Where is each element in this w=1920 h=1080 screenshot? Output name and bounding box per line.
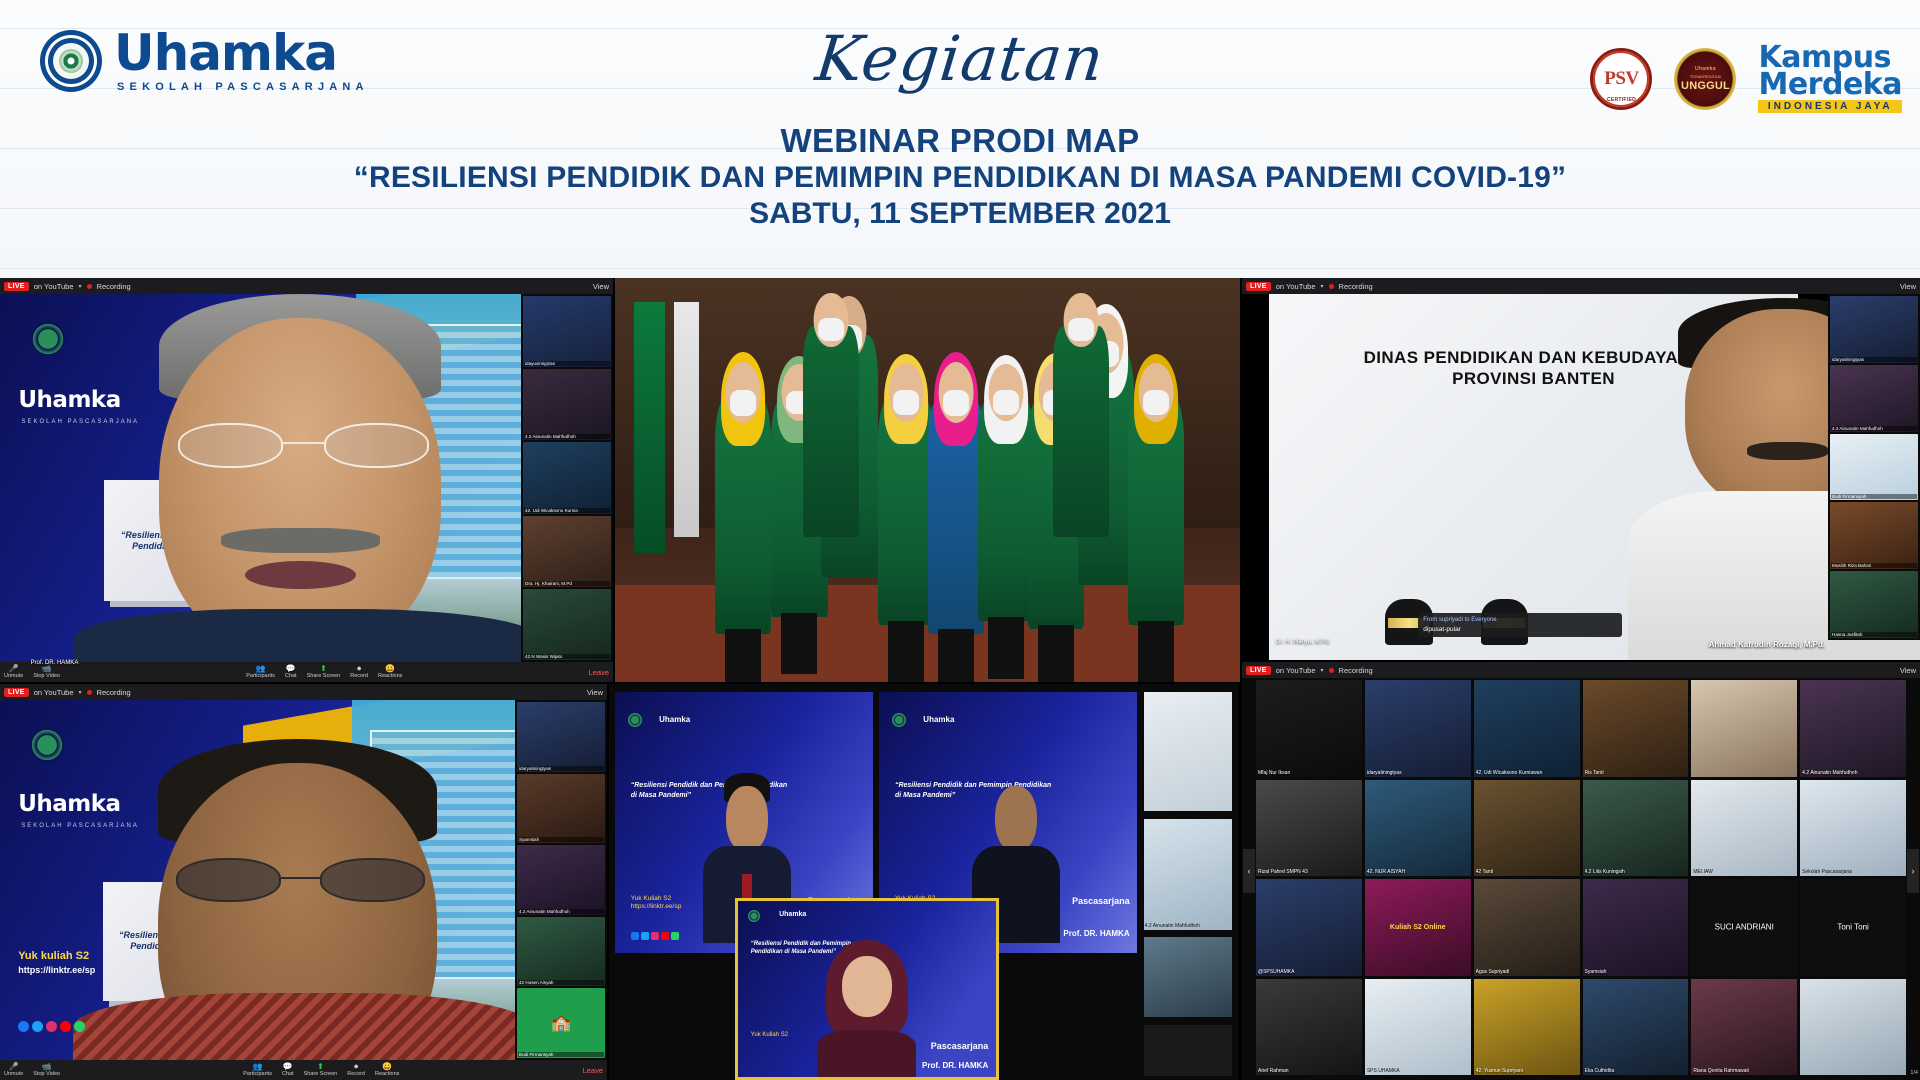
recording-dot-icon	[1329, 284, 1334, 289]
social-icons[interactable]	[18, 1021, 85, 1032]
thumbnail-participant[interactable]: idaryatiningtyas	[517, 702, 605, 772]
thumbnail-participant[interactable]: Hasna Jusfitah	[1830, 571, 1918, 638]
whatsapp-icon[interactable]	[671, 932, 679, 940]
thumbnail-participant[interactable]: 4.2 Ainunatin Mahfudhoh	[517, 845, 605, 915]
toolbar-participants-button[interactable]: 👥Participants	[243, 1063, 272, 1077]
cell-name: 42. Yusnun Supriyani	[1476, 1068, 1578, 1074]
chevron-down-icon[interactable]: ▾	[1321, 283, 1324, 290]
pane-speaker-keynote[interactable]: Uhamka SEKOLAH PASCASARJANA “Resiliensi …	[0, 278, 613, 682]
cell-name: Syamsiah	[1585, 969, 1687, 975]
facebook-icon[interactable]	[631, 932, 639, 940]
zoom-status-bar: LIVE on YouTube ▾ Recording View	[0, 684, 607, 700]
cell-name: 42. Udi Wicaksono Kurniawan	[1476, 770, 1578, 776]
view-button[interactable]: View	[593, 282, 609, 291]
chevron-down-icon[interactable]: ▾	[1321, 667, 1324, 674]
speaker-name-caption: Prof. DR. HAMKA	[31, 660, 79, 666]
thumbnail-participant[interactable]: Musliih Riza Bahari	[1830, 502, 1918, 569]
banten-line2: PROVINSI BANTEN	[1452, 369, 1615, 388]
slide-brand: Uhamka	[18, 791, 120, 817]
pane-speaker-moderator[interactable]: Uhamka SEKOLAH PASCASARJANA “Resiliensi …	[0, 684, 607, 1080]
thumb-name: 4.2 Ainunatin Mahfudhoh	[1145, 923, 1200, 929]
cell-display-name: SUCI ANDRIANI	[1697, 923, 1792, 932]
group-member	[715, 399, 771, 633]
cell-name: Mfaj Nur Iksan	[1258, 770, 1360, 776]
slide-pascasarjana: Pascasarjana	[1072, 896, 1130, 906]
gallery-cell[interactable]	[1800, 979, 1906, 1076]
cell-name: 4.2 Lilis Kuningsih	[1585, 869, 1687, 875]
toolbar-stop-video-button[interactable]: 📹Stop Video	[33, 665, 60, 679]
thumbnail-participant[interactable]: Syamsiah	[517, 774, 605, 844]
recording-label: Recording	[1339, 666, 1373, 675]
toolbar-unmute-button[interactable]: 🎤Unmute	[4, 665, 23, 679]
gallery-cell[interactable]: Mfaj Nur Iksan	[1256, 680, 1362, 777]
slide-logo-icon	[892, 713, 906, 727]
toolbar-record-button[interactable]: ⏺Record	[347, 1063, 365, 1077]
group-member	[1053, 326, 1109, 536]
gallery-cell[interactable]: 4.2 Ainunatin Mahfudhoh	[1800, 680, 1906, 777]
cell-name: SPS UHAMKA	[1367, 1068, 1469, 1074]
house-icon: 🏫	[551, 1013, 571, 1033]
gallery-cell[interactable]: 42 Tanti	[1474, 780, 1580, 877]
speaker-caption-left: Dr. H. Wahyu, M.Pd.	[1276, 639, 1330, 645]
cta-line1: Yuk kuliah S2	[18, 950, 89, 962]
thumb-name: idaryatiningtyas	[518, 766, 604, 771]
banten-background: DINAS PENDIDIKAN DAN KEBUDAYAAN PROVINSI…	[1242, 278, 1920, 660]
cell-name: Agus Supriyadi	[1476, 969, 1578, 975]
group-member	[928, 399, 984, 633]
gallery-prev-arrow[interactable]: ‹	[1243, 849, 1255, 893]
live-badge: LIVE	[4, 688, 29, 697]
cta2: https://linktr.ee/sp	[631, 903, 682, 910]
toolbar-reactions-button[interactable]: 😀Reactions	[375, 1063, 399, 1077]
thumbnail-participant[interactable]	[1144, 692, 1232, 811]
thumb-name: 4.2 Ainunatin Mahfudhoh	[524, 434, 610, 439]
thumbnail-participant[interactable]	[1144, 1025, 1232, 1076]
toolbar-stop-video-button[interactable]: 📹Stop Video	[33, 1063, 60, 1077]
glasses-icon	[176, 858, 425, 902]
poster-title-block: WEBINAR PRODI MAP “RESILIENSI PENDIDIK D…	[0, 122, 1920, 232]
unggul-accreditation-seal-icon: Uhamka TERAKREDITASI UNGGUL	[1674, 48, 1736, 110]
toolbar-leave-button[interactable]: Leave	[583, 1066, 603, 1075]
instagram-icon[interactable]	[46, 1021, 57, 1032]
psv-label: PSV	[1604, 68, 1638, 90]
gallery-cell[interactable]: 42. Yusnun Supriyani	[1474, 979, 1580, 1076]
webinar-date: SABTU, 11 SEPTEMBER 2021	[0, 196, 1920, 232]
gallery-cell[interactable]: Sekolah Pascasarjana	[1800, 780, 1906, 877]
gallery-cell[interactable]: 42. NUR AISYAH	[1365, 780, 1471, 877]
cell-name: MEI.IAW	[1693, 869, 1795, 875]
chat-icon: 💬	[286, 665, 296, 673]
thumb-name: Syamsiah	[518, 837, 604, 842]
thumb-name: Musliih Riza Bahari	[1831, 563, 1917, 568]
twitter-icon[interactable]	[32, 1021, 43, 1032]
whatsapp-icon[interactable]	[74, 1021, 85, 1032]
people-icon: 👥	[256, 665, 266, 673]
people-icon: 👥	[253, 1063, 263, 1071]
cell-name: @SPSUHAMKA	[1258, 969, 1360, 975]
chevron-down-icon[interactable]: ▾	[79, 689, 82, 696]
zoom-status-bar: LIVE on YouTube ▾ Recording View	[1242, 278, 1920, 294]
psv-certified-label: CERTIFIED	[1593, 97, 1649, 103]
unggul-label: UNGGUL	[1681, 80, 1730, 92]
psv-certified-seal-icon: PSV CERTIFIED	[1590, 48, 1652, 110]
thumbnail-participant[interactable]	[1144, 937, 1232, 1016]
reactions-icon: 😀	[382, 1063, 392, 1071]
toolbar-record-button[interactable]: ⏺Record	[350, 665, 368, 679]
recording-label: Recording	[97, 688, 131, 697]
toolbar-unmute-button[interactable]: 🎤Unmute	[4, 1063, 23, 1077]
webinar-poster-screenshot: Uhamka SEKOLAH PASCASARJANA Kegiatan WEB…	[0, 0, 1920, 1080]
cell-display-name: Toni Toni	[1805, 923, 1900, 932]
slide-brand: Uhamka	[659, 715, 690, 724]
reactions-icon: 😀	[385, 665, 395, 673]
webinar-theme: “RESILIENSI PENDIDIK DAN PEMIMPIN PENDID…	[0, 160, 1920, 196]
thumbnail-participant[interactable]: Budi Firmansyah	[1830, 434, 1918, 501]
unggul-terakreditasi: TERAKREDITASI	[1690, 74, 1722, 79]
youtube-icon[interactable]	[60, 1021, 71, 1032]
kampus-merdeka-tagline: INDONESIA JAYA	[1758, 100, 1902, 113]
view-button[interactable]: View	[1900, 666, 1916, 675]
participant-thumbnail-strip[interactable]: idayuximigizas 4.2 Ainunatin Mahfudhoh 4…	[521, 294, 613, 662]
chat-notification-bubble[interactable]: From supriyadi to Everyone dipusat-pular	[1418, 613, 1621, 637]
group-member	[1128, 399, 1184, 625]
cell-name: Sekolah Pascasarjana	[1802, 869, 1904, 875]
group-member	[978, 399, 1034, 621]
gallery-cell-name-only[interactable]: SUCI ANDRIANI	[1691, 879, 1797, 976]
chat-sender: From supriyadi to Everyone	[1423, 616, 1616, 625]
overlay-speaker-figure	[815, 940, 918, 1077]
zoom-status-bar: LIVE on YouTube ▾ Recording View	[0, 278, 613, 294]
overlay-cta: Yuk Kuliah S2	[751, 1032, 788, 1038]
gallery-cell-name-only[interactable]: Toni Toni	[1800, 879, 1906, 976]
zoom-toolbar[interactable]: 🎤Unmute 📹Stop Video 👥Participants 💬Chat …	[0, 662, 613, 682]
gallery-cell[interactable]: Syamsiah	[1583, 879, 1689, 976]
thumbnail-participant[interactable]: 42 Husen Aisyah	[517, 917, 605, 987]
zoom-status-bar: LIVE on YouTube ▾ Recording View	[1242, 662, 1920, 678]
gallery-cell[interactable]: Agus Supriyadi	[1474, 879, 1580, 976]
pane-gallery-grid[interactable]: LIVE on YouTube ▾ Recording View Mfaj Nu…	[1242, 662, 1920, 1080]
share-screen-icon: ⬆	[320, 665, 327, 673]
view-button[interactable]: View	[1900, 282, 1916, 291]
live-badge: LIVE	[1246, 282, 1271, 291]
thumb-name: Budi Firmansyah	[518, 1052, 604, 1057]
social-icons[interactable]	[631, 932, 679, 940]
group-member	[803, 326, 859, 536]
gallery-cell[interactable]: @SPSUHAMKA	[1256, 879, 1362, 976]
group-member	[878, 399, 934, 625]
toolbar-leave-button[interactable]: Leave	[589, 668, 609, 677]
slide-brand: Uhamka	[923, 715, 954, 724]
speaker-caption-right: Ahmad Kafrudin Rozaqi, M.Pd.	[1709, 640, 1825, 649]
gallery-cell[interactable]: Ris Tanti	[1583, 680, 1689, 777]
microphone-icon: 🎤	[9, 1063, 19, 1071]
speaker-mouth	[245, 561, 355, 589]
group-photo-background	[615, 278, 1240, 682]
camera-icon: 📹	[42, 1063, 52, 1071]
slide-brand: Uhamka	[18, 387, 120, 413]
slide-cta: Yuk Kuliah S2 https://linktr.ee/sp	[631, 895, 682, 911]
cell-name: idaryatiningtyas	[1367, 770, 1469, 776]
partner-logos: PSV CERTIFIED Uhamka TERAKREDITASI UNGGU…	[1590, 44, 1902, 113]
video-collage-grid: Uhamka SEKOLAH PASCASARJANA “Resiliensi …	[0, 278, 1920, 1080]
zoom-toolbar[interactable]: 🎤Unmute 📹Stop Video 👥Participants 💬Chat …	[0, 1060, 607, 1080]
kampus-merdeka-logo: Kampus Merdeka INDONESIA JAYA	[1758, 44, 1902, 113]
camera-icon: 📹	[42, 665, 52, 673]
cta1: Yuk Kuliah S2	[631, 895, 671, 902]
speaker-face	[159, 318, 441, 657]
gallery-page-indicator: 1/4	[1910, 1070, 1918, 1076]
pane-speaker-banten[interactable]: DINAS PENDIDIKAN DAN KEBUDAYAAN PROVINSI…	[1242, 278, 1920, 660]
cell-name: Riana Qonita Rahmawati	[1693, 1068, 1795, 1074]
youtube-icon[interactable]	[661, 932, 669, 940]
live-badge: LIVE	[4, 282, 29, 291]
live-platform-label[interactable]: on YouTube	[1276, 666, 1316, 675]
thumb-name: Dra. Hj. Khairani, M.Pd	[524, 581, 610, 586]
overlay-pascasarjana: Pascasarjana	[931, 1041, 989, 1051]
slide-logo-icon	[748, 910, 760, 922]
cta-line2: https://linktr.ee/sp	[18, 965, 95, 975]
instagram-icon[interactable]	[651, 932, 659, 940]
overlay-active-speaker[interactable]: Uhamka “Resiliensi Pendidik dan Pemimpin…	[735, 898, 999, 1080]
cell-name: Arief Rahman	[1258, 1068, 1360, 1074]
speaker-moustache	[221, 528, 380, 552]
thumb-name: idaryatiningtyas	[1831, 357, 1917, 362]
slide-brand-sub: SEKOLAH PASCASARJANA	[21, 419, 139, 425]
thumb-name: Hasna Jusfitah	[1831, 632, 1917, 637]
poster-header: Uhamka SEKOLAH PASCASARJANA Kegiatan WEB…	[0, 0, 1920, 278]
record-icon: ⏺	[354, 1063, 358, 1071]
thumb-name: 4.2 Ainunatin Mahfudhoh	[1831, 426, 1917, 431]
recording-dot-icon	[1329, 668, 1334, 673]
slide-logo-icon	[30, 728, 64, 762]
recording-dot-icon	[87, 690, 92, 695]
gallery-cell[interactable]	[1691, 680, 1797, 777]
live-platform-label[interactable]: on YouTube	[1276, 282, 1316, 291]
share-screen-icon: ⬆	[317, 1063, 324, 1071]
webinar-title: WEBINAR PRODI MAP	[0, 122, 1920, 160]
toolbar-participants-button[interactable]: 👥Participants	[246, 665, 275, 679]
gallery-next-arrow[interactable]: ›	[1907, 849, 1919, 893]
thumb-name: 42.N Wasis Wijato	[524, 654, 610, 659]
slide-brand-sub: SEKOLAH PASCASARJANA	[21, 823, 139, 829]
unggul-brand: Uhamka	[1695, 66, 1716, 72]
participant-thumbnail-strip[interactable]: idaryatiningtyas Syamsiah 4.2 Ainunatin …	[515, 700, 607, 1060]
thumb-name: idayuximigizas	[524, 361, 610, 366]
pane-group-photo[interactable]	[615, 278, 1240, 682]
recording-dot-icon	[87, 284, 92, 289]
chat-icon: 💬	[283, 1063, 293, 1071]
toolbar-reactions-button[interactable]: 😀Reactions	[378, 665, 402, 679]
toolbar-share-screen-button[interactable]: ⬆Share Screen	[307, 665, 341, 679]
thumbnail-participant[interactable]: 🏫Budi Firmansyah	[517, 988, 605, 1058]
slide-hamka: Prof. DR. HAMKA	[1063, 929, 1129, 938]
twitter-icon[interactable]	[641, 932, 649, 940]
kampus-merdeka-line2: Merdeka	[1758, 71, 1902, 98]
live-platform-label[interactable]: on YouTube	[34, 282, 74, 291]
pane-dual-speakers[interactable]: Uhamka “Resiliensi Pendidik dan Pemimpin…	[609, 684, 1238, 1080]
thumbnail-participant[interactable]: 4.2 Ainunatin Mahfudhoh	[523, 369, 611, 440]
toolbar-share-screen-button[interactable]: ⬆Share Screen	[304, 1063, 338, 1077]
thumbnail-participant[interactable]: 4.2 Ainunatin Mahfudhoh	[1144, 819, 1232, 930]
gallery-cell[interactable]: idaryatiningtyas	[1365, 680, 1471, 777]
thumbnail-participant[interactable]: 42.N Wasis Wijato	[523, 589, 611, 660]
toolbar-chat-button[interactable]: 💬Chat	[285, 665, 297, 679]
view-button[interactable]: View	[587, 688, 603, 697]
live-platform-label[interactable]: on YouTube	[34, 688, 74, 697]
gallery-cell[interactable]: Arief Rahman	[1256, 979, 1362, 1076]
cell-promo-text: Kuliah S2 Online	[1390, 924, 1446, 931]
thumbnail-participant[interactable]: 4.2 Ainunatin Mahfudhoh	[1830, 365, 1918, 432]
cell-name: 42 Tanti	[1476, 869, 1578, 875]
gallery-participant-grid[interactable]: Mfaj Nur Iksan idaryatiningtyas 42. Udi …	[1256, 680, 1906, 1078]
thumbnail-participant[interactable]: 42. Udi Wicaksono Kurnia	[523, 442, 611, 513]
record-icon: ⏺	[357, 665, 361, 673]
cell-name: Ris Tanti	[1585, 770, 1687, 776]
thumbnail-participant[interactable]: idaryatiningtyas	[1830, 296, 1918, 363]
overlay-hamka: Prof. DR. HAMKA	[922, 1061, 988, 1070]
recording-label: Recording	[1339, 282, 1373, 291]
overlay-brand: Uhamka	[779, 911, 806, 918]
cta-text: Yuk kuliah S2 https://linktr.ee/sp	[18, 949, 95, 977]
chevron-down-icon[interactable]: ▾	[79, 283, 82, 290]
gallery-cell[interactable]: 4.2 Lilis Kuningsih	[1583, 780, 1689, 877]
cell-name: Eka Cuthidita	[1585, 1068, 1687, 1074]
thumb-name: 42 Husen Aisyah	[518, 980, 604, 985]
facebook-icon[interactable]	[18, 1021, 29, 1032]
glasses-icon	[178, 423, 429, 467]
flag-green-icon	[634, 302, 665, 552]
toolbar-chat-button[interactable]: 💬Chat	[282, 1063, 294, 1077]
gallery-cell[interactable]: Rizal Pahrel SMPN 43	[1256, 780, 1362, 877]
gallery-cell[interactable]: 42. Udi Wicaksono Kurniawan	[1474, 680, 1580, 777]
slide-logo-icon	[31, 322, 65, 356]
gallery-cell[interactable]: SPS UHAMKA	[1365, 979, 1471, 1076]
participant-thumbnail-strip[interactable]: idaryatiningtyas 4.2 Ainunatin Mahfudhoh…	[1828, 294, 1920, 640]
gallery-cell[interactable]: Eka Cuthidita	[1583, 979, 1689, 1076]
thumbnail-participant[interactable]: Dra. Hj. Khairani, M.Pd	[523, 516, 611, 587]
cell-name: Rizal Pahrel SMPN 43	[1258, 869, 1360, 875]
thumb-name: Budi Firmansyah	[1831, 494, 1917, 499]
header-rule	[0, 268, 1920, 269]
chat-message: dipusat-pular	[1423, 625, 1616, 634]
live-badge: LIVE	[1246, 666, 1271, 675]
cell-name: 42. NUR AISYAH	[1367, 869, 1469, 875]
thumb-name: 42. Udi Wicaksono Kurnia	[524, 508, 610, 513]
recording-label: Recording	[97, 282, 131, 291]
microphone-icon: 🎤	[9, 665, 19, 673]
thumbnail-participant[interactable]: idayuximigizas	[523, 296, 611, 367]
gallery-cell[interactable]: Riana Qonita Rahmawati	[1691, 979, 1797, 1076]
cell-name: 4.2 Ainunatin Mahfudhoh	[1802, 770, 1904, 776]
gallery-cell-promo[interactable]: Kuliah S2 Online	[1365, 879, 1471, 976]
slide-logo-icon	[628, 713, 642, 727]
flag-white-icon	[674, 302, 699, 536]
gallery-cell[interactable]: MEI.IAW	[1691, 780, 1797, 877]
thumb-name: 4.2 Ainunatin Mahfudhoh	[518, 909, 604, 914]
